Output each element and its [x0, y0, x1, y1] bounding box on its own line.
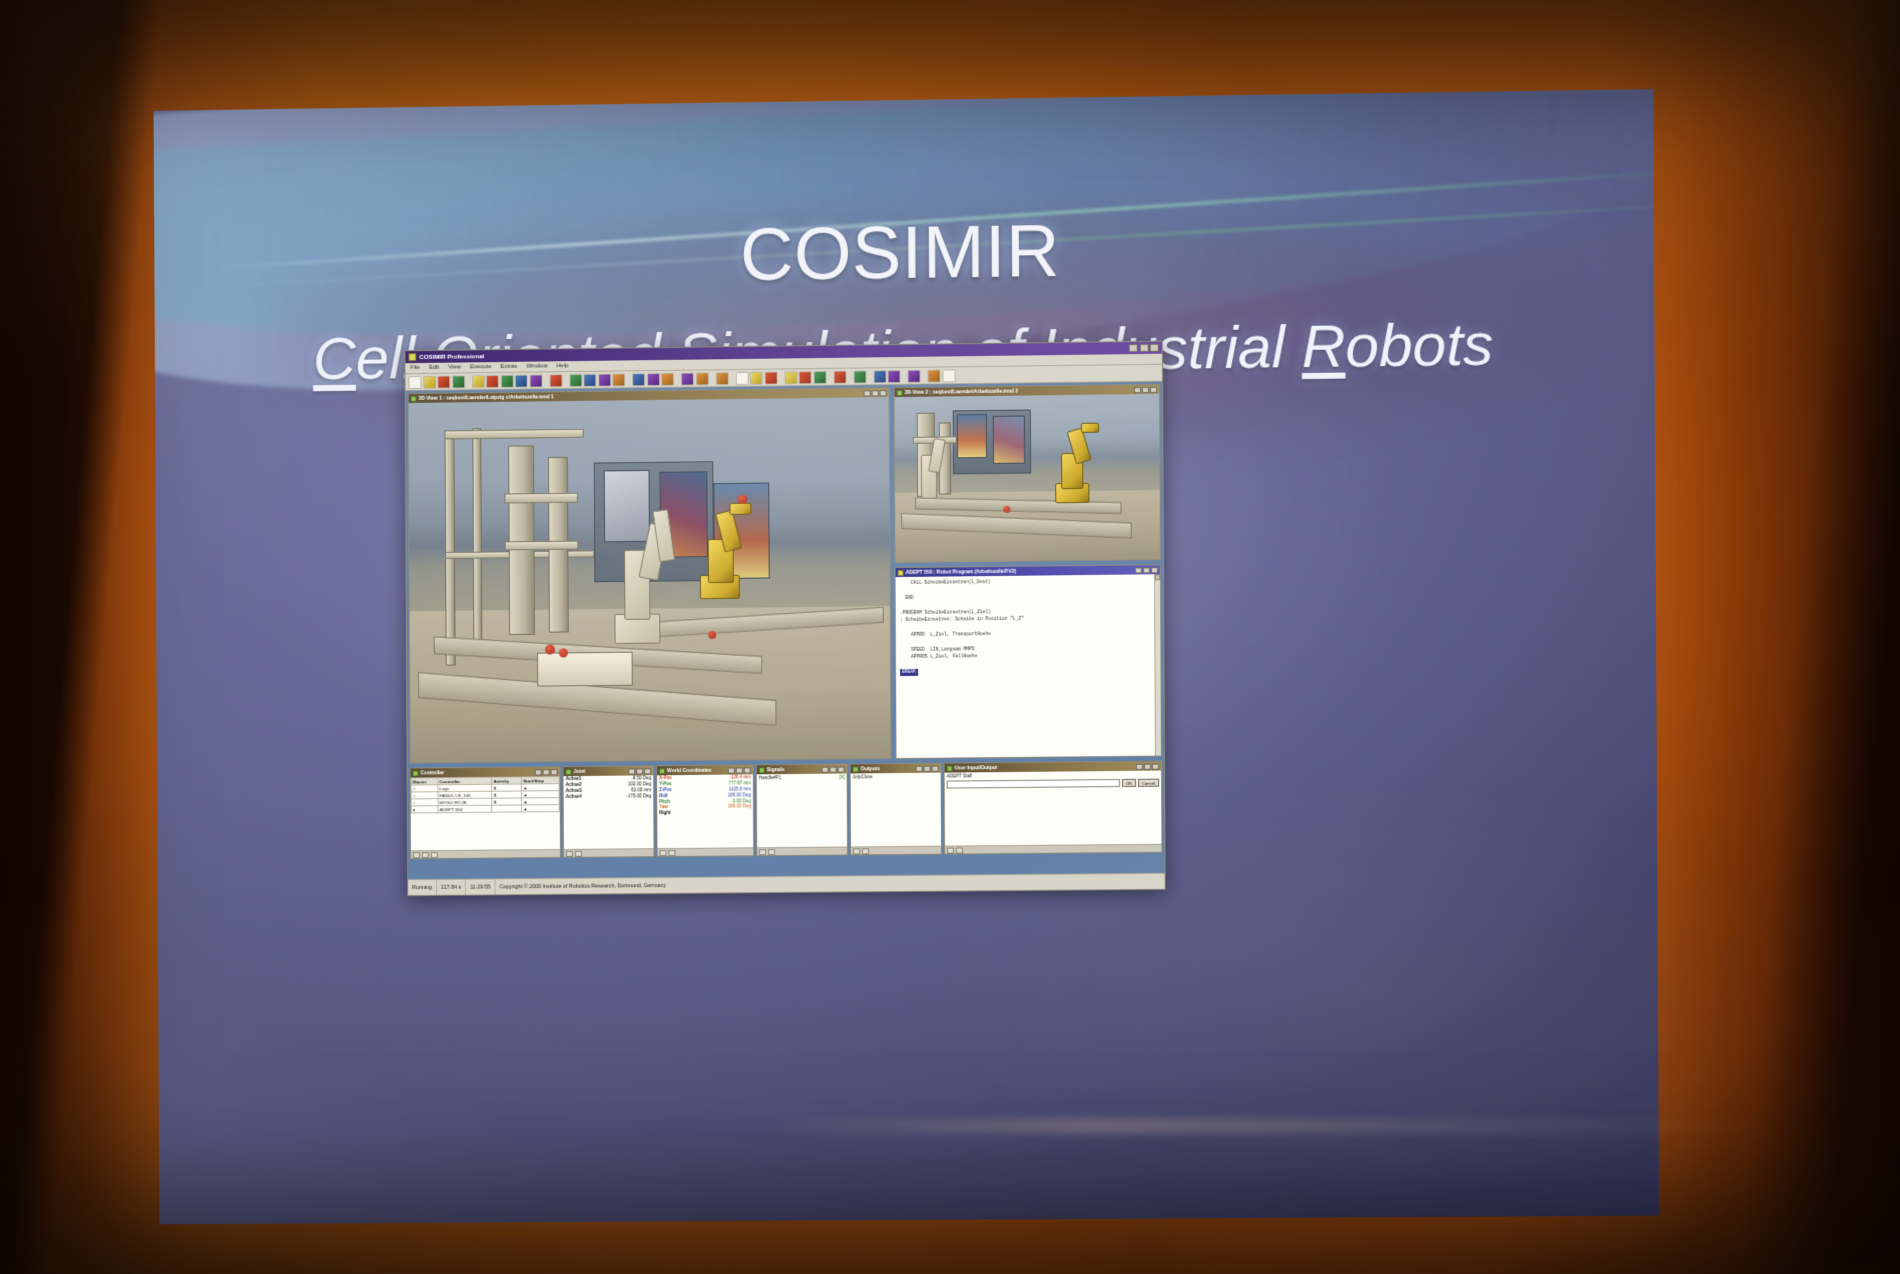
- close-icon[interactable]: [880, 390, 887, 396]
- menu-item-file[interactable]: File: [410, 365, 420, 371]
- wall-poster-1: [604, 470, 650, 542]
- subtitle-part-8: R: [1302, 312, 1346, 380]
- tower-crossbar: [504, 493, 578, 504]
- controllers-table[interactable]: MasterControllerActivityStart/Stop ○Logi…: [411, 776, 560, 813]
- table-row[interactable]: ●ADEPT 550▲: [411, 805, 559, 813]
- robot-fanuc-wrist: [729, 503, 751, 515]
- window-signals[interactable]: Signals Handle#P1 [X]: [756, 764, 848, 857]
- render-1-icon[interactable]: [569, 373, 582, 386]
- close-icon[interactable]: [1152, 763, 1159, 769]
- one-icon[interactable]: [472, 375, 485, 388]
- render-3-icon[interactable]: [598, 373, 611, 386]
- ctrl-1-icon[interactable]: [681, 372, 694, 385]
- view-icon: [411, 395, 417, 401]
- menu-item-extras[interactable]: Extras: [500, 364, 517, 370]
- status-sim-time: 117.84 s: [437, 880, 466, 895]
- win-3-icon[interactable]: [661, 372, 674, 385]
- teach-icon[interactable]: [833, 370, 846, 383]
- minimize-icon[interactable]: [822, 766, 829, 772]
- menu-item-help[interactable]: Help: [556, 363, 568, 369]
- status-copyright: Copyright © 2000 Institute of Robotics R…: [495, 874, 1164, 895]
- wall-poster-1: [957, 414, 987, 458]
- close-icon[interactable]: [644, 768, 651, 774]
- step-3-icon[interactable]: [764, 371, 777, 384]
- gantry-post-left-2: [472, 428, 482, 653]
- close-icon[interactable]: [1151, 567, 1158, 573]
- workpiece-red-2: [559, 648, 568, 657]
- gantry-beam-top: [445, 429, 584, 440]
- open-icon[interactable]: [423, 375, 436, 388]
- value-label: Z-Pos: [659, 787, 671, 792]
- program-icon: [898, 569, 904, 575]
- prev-icon[interactable]: [413, 852, 420, 858]
- signals-statusbar[interactable]: [757, 846, 847, 855]
- value-label: Roll: [659, 793, 667, 798]
- terminal-icon: [947, 765, 953, 771]
- app-title: COSIMIR Professional: [419, 353, 484, 361]
- value-number: 0.00 Deg: [733, 798, 751, 803]
- robot-fanuc-wrist: [1081, 423, 1099, 433]
- lib-2-icon[interactable]: [942, 369, 955, 382]
- program-vertical-scrollbar[interactable]: [1154, 574, 1161, 755]
- minimize-icon[interactable]: [916, 765, 923, 771]
- menu-item-view[interactable]: View: [448, 364, 461, 370]
- workpiece-red-1: [545, 645, 555, 655]
- window-user-io-title: User Input/Output: [955, 763, 1134, 771]
- user-io-body[interactable]: ADEPT Staff OK Cancel: [945, 771, 1162, 846]
- close-icon[interactable]: [744, 767, 751, 773]
- prev-icon[interactable]: [759, 849, 766, 855]
- render-4-icon[interactable]: [612, 373, 625, 386]
- prev-icon[interactable]: [947, 847, 954, 853]
- window-controllers[interactable]: Controller MasterControllerActivityStart…: [410, 766, 561, 859]
- status-clock: 11:29:55: [466, 879, 495, 894]
- value-label: Achse4: [566, 794, 582, 799]
- move-icon[interactable]: [515, 374, 528, 387]
- value-number: 102.00 Deg: [628, 781, 651, 786]
- value-number: -8.50 Deg: [631, 776, 651, 781]
- maximize-icon[interactable]: [736, 767, 743, 773]
- value-label: Right: [659, 810, 670, 815]
- rec-stop-icon[interactable]: [715, 372, 728, 385]
- subtitle-part-9: obots: [1345, 310, 1493, 379]
- workpiece-red-1: [1003, 506, 1010, 513]
- close-icon[interactable]: [932, 765, 939, 771]
- maximize-icon[interactable]: [830, 766, 837, 772]
- menu-item-edit[interactable]: Edit: [429, 365, 439, 371]
- model-icon[interactable]: [907, 369, 920, 382]
- value-number: 1105.0 mm: [729, 786, 751, 791]
- win-2-icon[interactable]: [647, 372, 660, 385]
- render-2-icon[interactable]: [583, 373, 596, 386]
- coordinates-icon: [659, 768, 665, 774]
- maximize-icon[interactable]: [1142, 386, 1149, 392]
- minimize-icon[interactable]: [1136, 763, 1143, 769]
- next-icon[interactable]: [431, 852, 438, 858]
- next-icon[interactable]: [862, 848, 869, 854]
- signal-name: Handle#P1: [757, 774, 783, 780]
- window-user-io[interactable]: User Input/Output ADEPT Staff OK Cancel: [944, 761, 1163, 855]
- maximize-icon[interactable]: [1139, 344, 1148, 352]
- cell-activity[interactable]: [492, 805, 522, 812]
- work-table: [537, 652, 633, 687]
- signals-body[interactable]: Handle#P1 [X]: [757, 774, 847, 848]
- ctrl-2-icon[interactable]: [695, 372, 708, 385]
- minimize-icon[interactable]: [728, 767, 735, 773]
- close-icon[interactable]: [1150, 344, 1159, 352]
- joint-icon: [566, 769, 572, 775]
- window-outputs[interactable]: Outputs GripClose: [850, 763, 942, 856]
- viewport-3d-secondary[interactable]: [895, 394, 1160, 562]
- joints-body[interactable]: Achse1-8.50 DegAchse2102.00 DegAchse3-52…: [564, 775, 654, 849]
- view-icon: [897, 389, 903, 395]
- projected-slide: COSIMIR Cell Oriented Simulation of Indu…: [154, 89, 1660, 1224]
- window-joints[interactable]: Joint Achse1-8.50 DegAchse2102.00 DegAch…: [563, 765, 655, 858]
- robot-fanuc-tool-part: [737, 495, 747, 504]
- lib-1-icon[interactable]: [927, 369, 940, 382]
- grid-1-icon[interactable]: [873, 370, 886, 383]
- win-1-icon[interactable]: [632, 373, 645, 386]
- value-number: -175.00 Deg: [627, 793, 652, 798]
- wall-poster-2: [993, 416, 1025, 464]
- rotate-icon[interactable]: [529, 374, 542, 387]
- workpiece-red-3: [708, 631, 716, 639]
- minimize-icon[interactable]: [628, 768, 635, 774]
- next-icon[interactable]: [575, 850, 582, 856]
- window-world-coordinates[interactable]: World Coordinates X-Pos-128.4 mmY-Pos777…: [656, 764, 754, 857]
- value-label: Achse2: [566, 782, 582, 787]
- output-name: GripClose: [851, 773, 941, 780]
- grid-2-icon[interactable]: [887, 370, 900, 383]
- code-line: BREAK: [900, 666, 1156, 676]
- minimize-icon[interactable]: [1135, 567, 1142, 573]
- window-outputs-title: Outputs: [861, 765, 914, 771]
- maximize-icon[interactable]: [1144, 763, 1151, 769]
- viewport-3d-main[interactable]: [409, 397, 891, 762]
- value-row: Achse4-175.00 Deg: [564, 793, 654, 800]
- play-2-icon[interactable]: [799, 371, 812, 384]
- next-icon[interactable]: [956, 847, 963, 853]
- step-2-icon[interactable]: [750, 371, 763, 384]
- scroll-up-arrow-icon[interactable]: [1155, 574, 1160, 580]
- user-io-input[interactable]: [947, 779, 1120, 789]
- output-icon: [853, 766, 859, 772]
- grid-icon[interactable]: [486, 374, 499, 387]
- subtitle-part-0: C: [313, 325, 356, 392]
- minimize-icon[interactable]: [1134, 387, 1141, 393]
- outputs-body[interactable]: GripClose: [851, 773, 941, 847]
- tower-crossbar-2: [505, 541, 579, 551]
- maximize-icon[interactable]: [1143, 567, 1150, 573]
- window-3d-view-secondary[interactable]: 3D-View 2 : seqbest/Laender/Arbeitszelle…: [894, 384, 1161, 563]
- world-coordinates-body[interactable]: X-Pos-128.4 mmY-Pos777.87 mmZ-Pos1105.0 …: [657, 774, 753, 848]
- outputs-statusbar[interactable]: [851, 846, 941, 855]
- controller-icon: [413, 770, 419, 776]
- maximize-icon[interactable]: [543, 769, 550, 775]
- value-number: -128.4 mm: [729, 775, 750, 780]
- signal-icon: [759, 767, 765, 773]
- window-joints-title: Joint: [573, 768, 626, 774]
- world-coordinates-statusbar[interactable]: [657, 847, 753, 856]
- signal-badge: [X]: [837, 774, 847, 780]
- user-io-cancel-button[interactable]: Cancel: [1138, 779, 1159, 787]
- pause-icon[interactable]: [422, 852, 429, 858]
- close-icon[interactable]: [838, 766, 845, 772]
- user-io-statusbar[interactable]: [945, 844, 1161, 854]
- menu-item-execute[interactable]: Execute: [470, 364, 492, 370]
- save-icon[interactable]: [437, 375, 450, 388]
- app-icon: [408, 353, 416, 361]
- projection-photo: COSIMIR Cell Oriented Simulation of Indu…: [0, 0, 1900, 1274]
- value-number: 180.00 Deg: [728, 804, 751, 809]
- value-label: Pitch: [659, 799, 670, 804]
- maximize-icon[interactable]: [872, 390, 879, 396]
- slide-surface: COSIMIR Cell Oriented Simulation of Indu…: [154, 89, 1660, 1224]
- select-icon[interactable]: [500, 374, 513, 387]
- user-io-ok-button[interactable]: OK: [1122, 779, 1136, 787]
- close-icon[interactable]: [551, 769, 558, 775]
- value-row: Right: [657, 809, 753, 816]
- close-icon[interactable]: [1150, 386, 1157, 392]
- play-3-icon[interactable]: [813, 370, 826, 383]
- window-world-coordinates-title: World Coordinates: [667, 767, 726, 774]
- cell-master[interactable]: ●: [411, 806, 438, 813]
- maximize-icon[interactable]: [636, 768, 643, 774]
- value-label: Achse3: [566, 788, 582, 793]
- step-1-icon[interactable]: [735, 371, 748, 384]
- user-io-input-row[interactable]: OK Cancel: [945, 777, 1162, 791]
- play-1-icon[interactable]: [784, 371, 797, 384]
- window-signals-title: Signals: [767, 766, 820, 772]
- prev-icon[interactable]: [853, 848, 860, 854]
- next-icon[interactable]: [668, 849, 675, 855]
- window-controls[interactable]: [1129, 344, 1159, 352]
- joints-statusbar[interactable]: [564, 848, 654, 857]
- menu-item-window[interactable]: Window: [526, 363, 547, 369]
- value-label: X-Pos: [659, 776, 672, 781]
- new-icon[interactable]: [408, 375, 421, 388]
- prev-icon[interactable]: [659, 850, 666, 856]
- value-number: 777.87 mm: [728, 781, 750, 786]
- zoom-all-icon[interactable]: [549, 374, 562, 387]
- mdi-client-area: 3D-View 1 : seqbest/Laender/Leipzig c/Ar…: [406, 382, 1165, 879]
- value-number: -52.00 mm: [630, 787, 651, 792]
- minimize-icon[interactable]: [864, 390, 871, 396]
- maximize-icon[interactable]: [924, 765, 931, 771]
- status-state: Running: [408, 880, 437, 895]
- io-panel-icon[interactable]: [853, 370, 866, 383]
- minimize-icon[interactable]: [1129, 344, 1138, 352]
- window-robot-program[interactable]: ADEPT 550 : Robot Program (ArbeitszelleP…: [895, 564, 1162, 759]
- prev-icon[interactable]: [566, 850, 573, 856]
- robot-program-code[interactable]: CALL ScheibeEinsetzen(L_Dest) END .PROGR…: [896, 574, 1161, 758]
- value-label: Y-Pos: [659, 781, 671, 786]
- cell-startstop[interactable]: ▲: [522, 805, 560, 812]
- window-3d-view-main[interactable]: 3D-View 1 : seqbest/Laender/Leipzig c/Ar…: [408, 387, 892, 763]
- value-label: Achse1: [566, 776, 582, 781]
- value-number: 180.00 Deg: [728, 792, 751, 797]
- code-line-highlighted: BREAK: [900, 669, 918, 677]
- window-controllers-title: Controller: [420, 769, 532, 776]
- value-label: Yaw: [659, 804, 668, 809]
- cell-controller[interactable]: ADEPT 550: [438, 805, 492, 812]
- print-icon[interactable]: [452, 375, 465, 388]
- cosimir-application-window: COSIMIR Professional FileEditViewExecute…: [404, 341, 1165, 896]
- controllers-statusbar[interactable]: [411, 849, 560, 858]
- controllers-body: MasterControllerActivityStart/Stop ○Logi…: [411, 776, 560, 850]
- wall-light-streak: [760, 1118, 1760, 1134]
- minimize-icon[interactable]: [535, 769, 542, 775]
- next-icon[interactable]: [768, 849, 775, 855]
